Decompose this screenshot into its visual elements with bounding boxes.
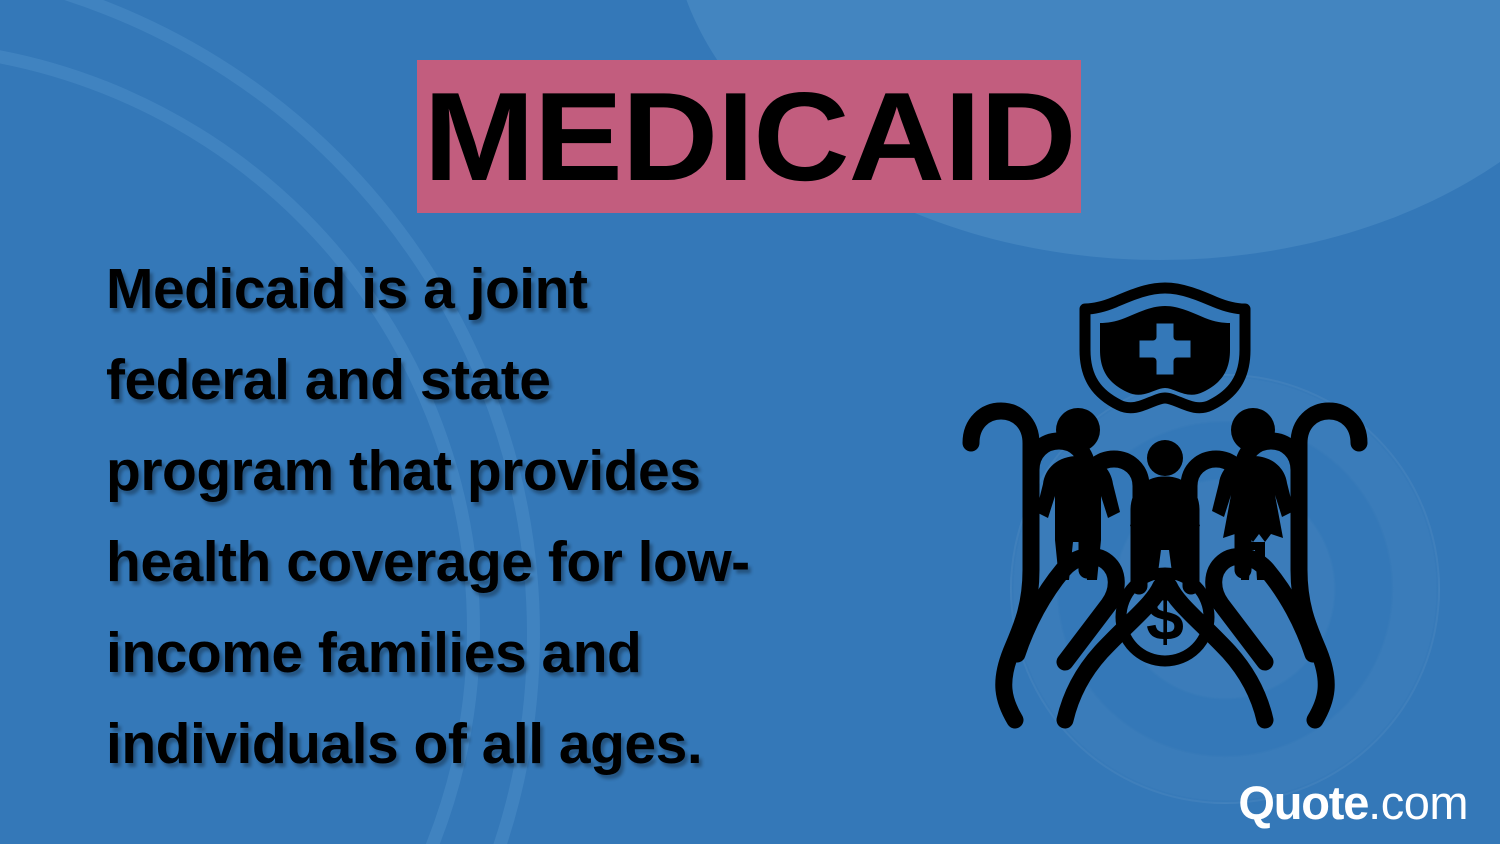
logo-tld-text: .com [1368,779,1468,826]
quote-com-logo[interactable]: Quote .com [1238,779,1468,826]
body-copy: Medicaid is a joint federal and state pr… [106,244,866,790]
page-title: MEDICAID [423,74,1075,200]
body-line: health coverage for low- [106,517,866,608]
hands-family-illustration: $ [915,280,1415,730]
medicaid-infographic-card: MEDICAID Medicaid is a joint federal and… [0,0,1500,844]
body-line: federal and state [106,335,866,426]
body-line: income families and [106,608,866,699]
health-shield-icon [1085,288,1245,408]
title-banner: MEDICAID [417,60,1081,213]
body-line: Medicaid is a joint [106,244,866,335]
logo-brand-text: Quote [1238,779,1368,826]
svg-text:$: $ [1146,579,1184,655]
body-line: individuals of all ages. [106,699,866,790]
body-line: program that provides [106,426,866,517]
